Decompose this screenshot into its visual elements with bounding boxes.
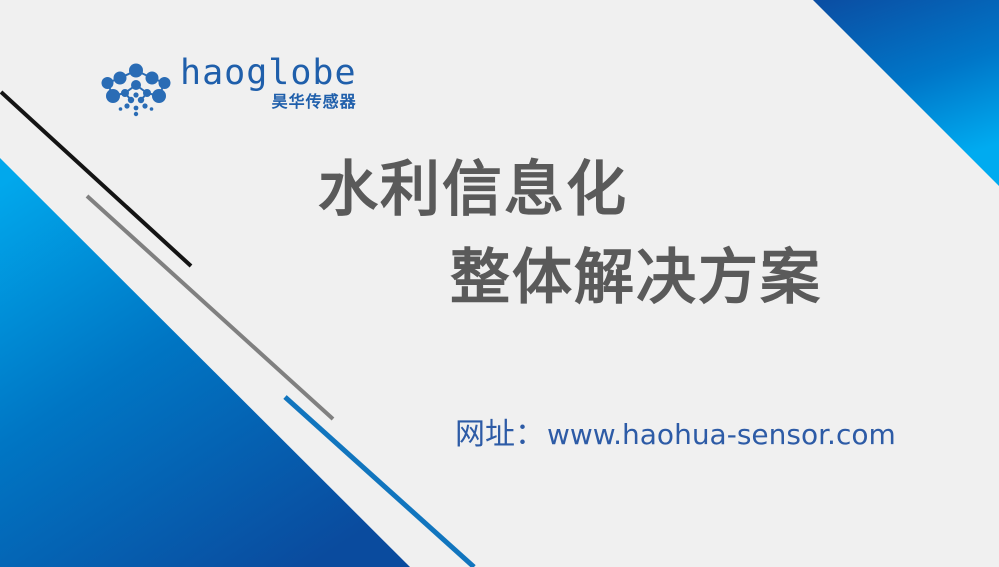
website-label: 网址： [455, 420, 545, 450]
logo-subtitle: 昊华传感器 [272, 94, 357, 110]
blue-diagonal-line [285, 397, 474, 567]
presentation-slide: haoglobe 昊华传感器 水利信息化 整体解决方案 网址： www.haoh… [0, 0, 999, 567]
slide-title: 水利信息化 整体解决方案 [0, 160, 999, 308]
company-logo: haoglobe 昊华传感器 [100, 56, 357, 118]
website-line: 网址： www.haohua-sensor.com [455, 420, 896, 450]
title-line-1: 水利信息化 [318, 160, 999, 220]
title-line-2: 整体解决方案 [450, 248, 999, 308]
logo-wordmark: haoglobe [180, 56, 357, 91]
top-right-blue-triangle [813, 0, 999, 186]
website-url[interactable]: www.haohua-sensor.com [547, 421, 896, 449]
haoglobe-molecule-icon [100, 62, 172, 118]
